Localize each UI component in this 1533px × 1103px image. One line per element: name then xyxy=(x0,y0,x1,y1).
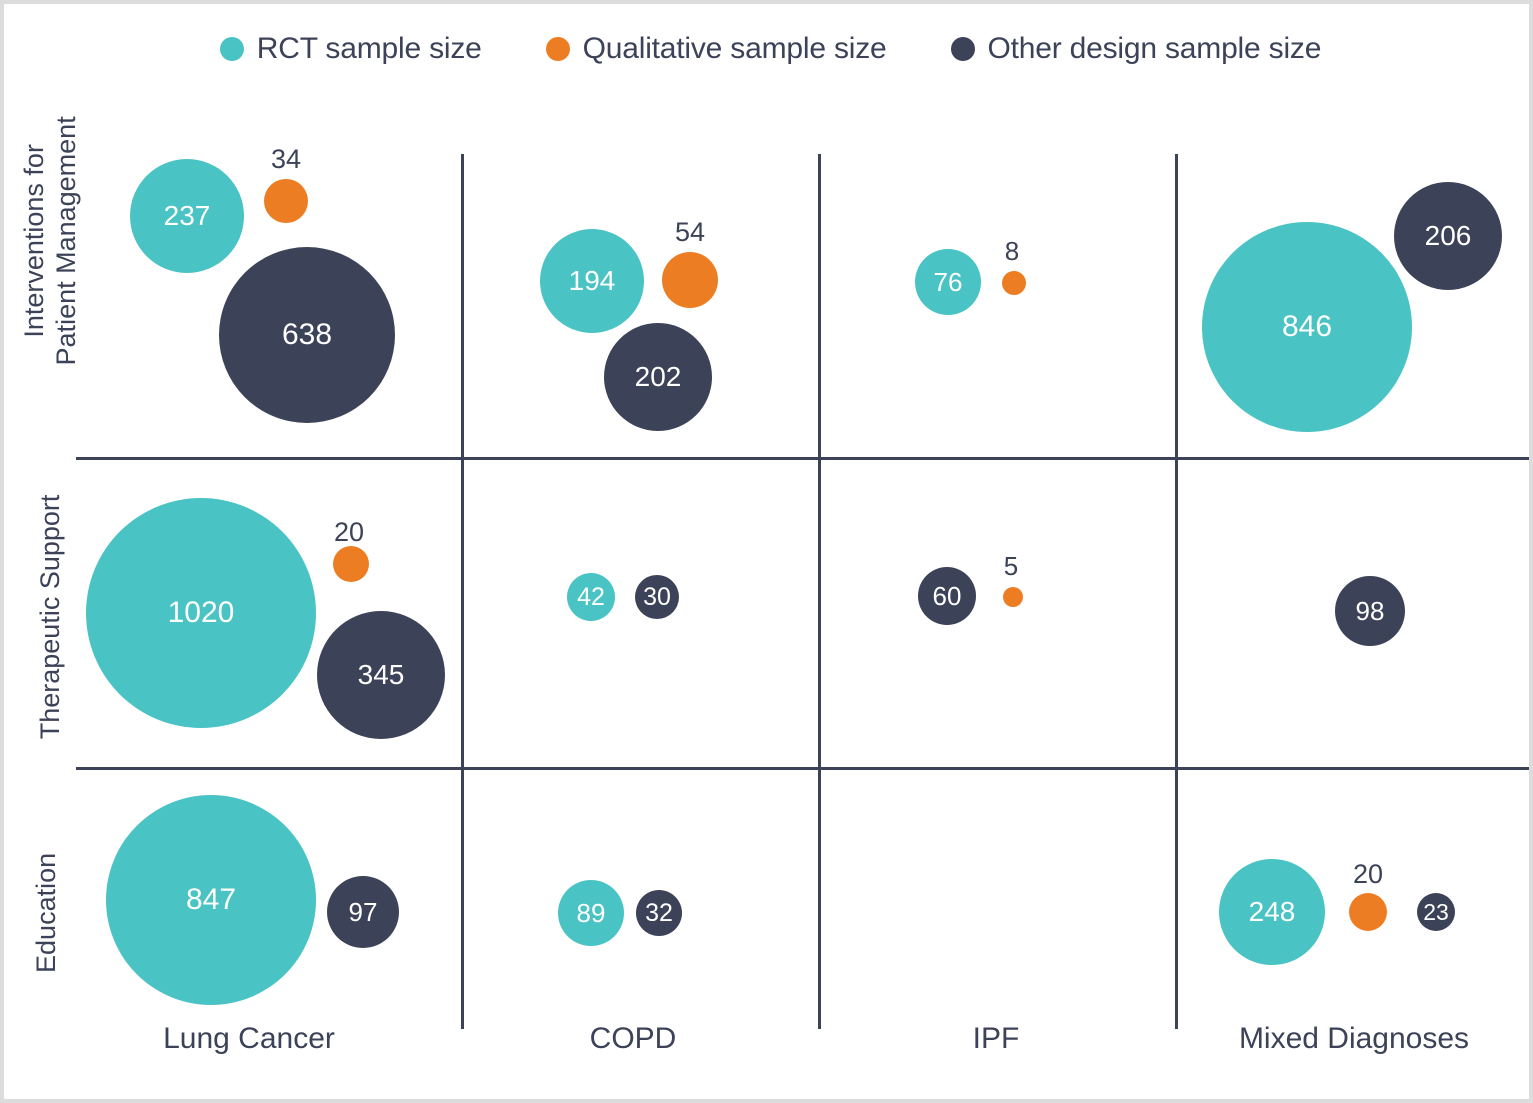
bubble-qualitative-8[interactable] xyxy=(1002,271,1026,295)
y-axis-label-interventions-line1: Interventions for xyxy=(19,116,51,366)
bubble-value: 206 xyxy=(1425,222,1472,250)
bubble-other-202[interactable]: 202 xyxy=(604,323,712,431)
gridline-vertical xyxy=(818,154,821,1029)
bubble-value: 846 xyxy=(1282,312,1332,342)
y-axis-label-education: Education xyxy=(31,788,63,1038)
bubble-qualitative-20[interactable] xyxy=(1349,893,1387,931)
bubble-value: 248 xyxy=(1249,898,1296,926)
y-axis-label-interventions: Interventions for Patient Management xyxy=(19,116,83,366)
bubble-value: 237 xyxy=(164,202,211,230)
bubble-value-outside: 34 xyxy=(136,144,436,175)
bubble-value: 194 xyxy=(569,267,616,295)
bubble-value: 42 xyxy=(577,585,605,610)
bubble-value-outside: 20 xyxy=(1218,859,1518,890)
bubble-value: 638 xyxy=(282,320,332,350)
bubble-value-outside: 54 xyxy=(540,217,840,248)
gridline-vertical xyxy=(461,154,464,1029)
bubble-value-outside: 8 xyxy=(862,236,1162,267)
bubble-rct-847[interactable]: 847 xyxy=(106,795,316,1005)
bubble-value: 30 xyxy=(643,585,671,610)
bubble-qualitative-5[interactable] xyxy=(1003,587,1023,607)
bubble-rct-846[interactable]: 846 xyxy=(1202,222,1412,432)
bubble-value: 847 xyxy=(186,885,236,915)
chart-page: RCT sample size Qualitative sample size … xyxy=(0,0,1533,1103)
y-axis-label-therapeutic: Therapeutic Support xyxy=(35,492,67,742)
bubble-rct-42[interactable]: 42 xyxy=(567,573,615,621)
bubble-other-345[interactable]: 345 xyxy=(317,611,445,739)
bubble-value: 60 xyxy=(933,583,962,609)
bubble-value-outside: 20 xyxy=(199,517,499,548)
bubble-value: 97 xyxy=(349,899,378,925)
bubble-value: 76 xyxy=(934,269,963,295)
gridline-vertical xyxy=(1175,154,1178,1029)
bubble-value: 1020 xyxy=(168,598,235,628)
bubble-value: 89 xyxy=(577,900,606,926)
bubble-value: 345 xyxy=(358,661,405,689)
gridline-horizontal xyxy=(76,457,1533,460)
bubble-other-32[interactable]: 32 xyxy=(636,890,682,936)
bubble-value-outside: 5 xyxy=(861,551,1161,582)
bubble-qualitative-20[interactable] xyxy=(333,546,369,582)
x-axis-label-mixed-diagnoses: Mixed Diagnoses xyxy=(1104,1022,1533,1056)
bubble-value: 202 xyxy=(635,363,682,391)
bubble-qualitative-54[interactable] xyxy=(662,252,718,308)
plot-area: Interventions for Patient Management The… xyxy=(4,4,1533,1103)
bubble-other-30[interactable]: 30 xyxy=(635,575,679,619)
bubble-value: 23 xyxy=(1423,901,1449,924)
bubble-rct-89[interactable]: 89 xyxy=(558,880,624,946)
y-axis-label-interventions-line2: Patient Management xyxy=(51,116,83,366)
bubble-value: 98 xyxy=(1356,598,1385,624)
bubble-other-206[interactable]: 206 xyxy=(1394,182,1502,290)
bubble-value: 32 xyxy=(645,901,673,926)
bubble-other-98[interactable]: 98 xyxy=(1335,576,1405,646)
bubble-other-97[interactable]: 97 xyxy=(327,876,399,948)
bubble-qualitative-34[interactable] xyxy=(264,179,308,223)
bubble-other-638[interactable]: 638 xyxy=(219,247,395,423)
gridline-horizontal xyxy=(76,767,1533,770)
bubble-other-23[interactable]: 23 xyxy=(1417,893,1455,931)
bubble-rct-237[interactable]: 237 xyxy=(130,159,244,273)
